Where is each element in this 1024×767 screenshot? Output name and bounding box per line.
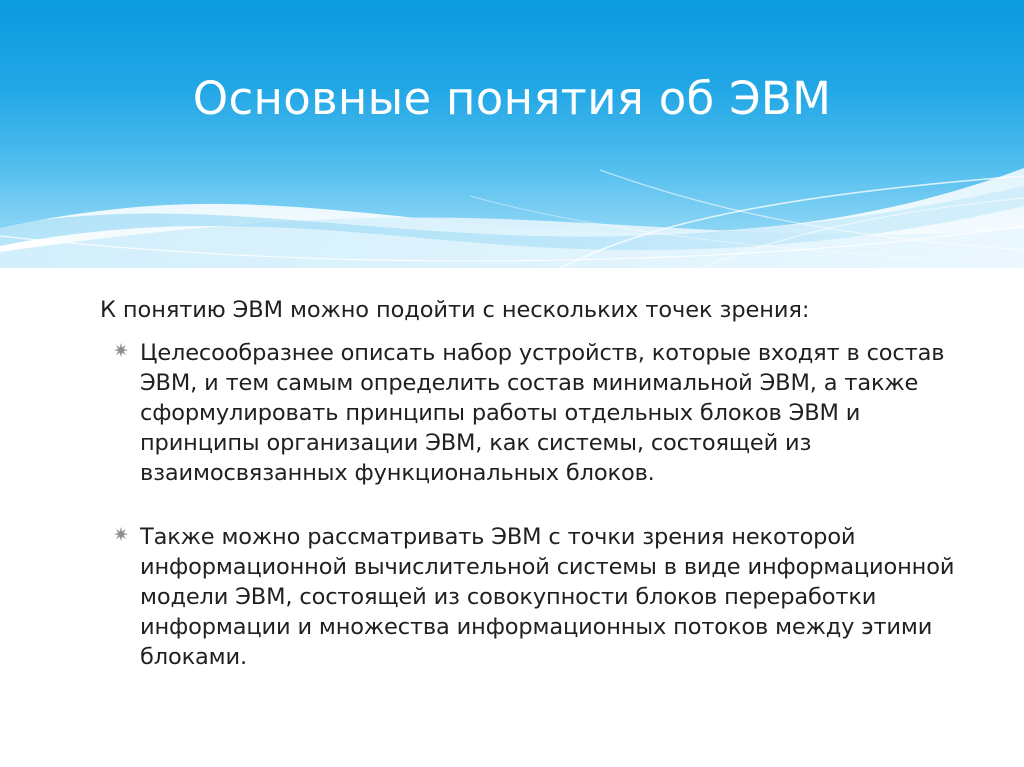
slide: Основные понятия об ЭВМ К понятию ЭВМ мо… [0,0,1024,767]
slide-body: К понятию ЭВМ можно подойти с нескольких… [100,296,960,672]
bullet-list: ✷ Целесообразнее описать набор устройств… [100,338,960,672]
list-item: ✷ Также можно рассматривать ЭВМ с точки … [100,522,960,672]
list-item-text: Также можно рассматривать ЭВМ с точки зр… [140,522,960,672]
list-item-text: Целесообразнее описать набор устройств, … [140,338,960,488]
slide-title: Основные понятия об ЭВМ [0,74,1024,124]
bullet-marker-icon: ✷ [113,339,129,364]
list-item: ✷ Целесообразнее описать набор устройств… [100,338,960,488]
header-graphic [0,0,1024,268]
lead-paragraph: К понятию ЭВМ можно подойти с нескольких… [100,296,960,326]
bullet-marker-icon: ✷ [113,523,129,548]
slide-header-banner: Основные понятия об ЭВМ [0,0,1024,268]
